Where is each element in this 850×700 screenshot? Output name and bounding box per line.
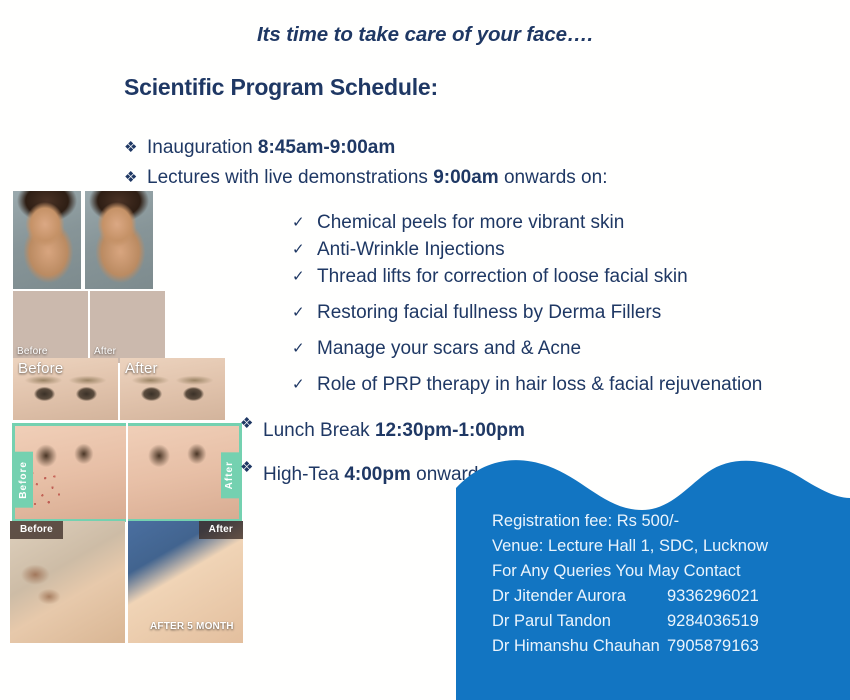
topic-item: ✓ Thread lifts for correction of loose f… — [292, 263, 812, 290]
contact-phone: 7905879163 — [667, 634, 759, 659]
check-icon: ✓ — [292, 263, 317, 290]
registration-fee: Registration fee: Rs 500/- — [492, 509, 822, 534]
collage-photo-pigment-after: After AFTER 5 MONTH — [128, 521, 243, 643]
contact-row: Dr Himanshu Chauhan 7905879163 — [492, 634, 822, 659]
topic-label: Chemical peels for more vibrant skin — [317, 209, 624, 236]
diamond-bullet-icon: ❖ — [240, 409, 263, 439]
topic-item: ✓ Restoring facial fullness by Derma Fil… — [292, 299, 812, 326]
schedule-item-text: Lunch Break 12:30pm-1:00pm — [263, 409, 525, 453]
schedule-item-text: High-Tea 4:00pm onwards — [263, 453, 488, 497]
collage-label-after-five-month: AFTER 5 MONTH — [150, 622, 234, 632]
collage-label-after-smile: After — [94, 347, 116, 357]
collage-label-before-acne: Before — [15, 452, 33, 508]
collage-label-before-smile: Before — [17, 347, 48, 357]
contact-name: Dr Jitender Aurora — [492, 584, 667, 609]
check-icon: ✓ — [292, 236, 317, 263]
contact-phone: 9336296021 — [667, 584, 759, 609]
topic-item: ✓ Chemical peels for more vibrant skin — [292, 209, 812, 236]
registration-queries: For Any Queries You May Contact — [492, 559, 822, 584]
schedule-item-lectures: ❖ Lectures with live demonstrations 9:00… — [124, 163, 644, 193]
topic-label: Anti-Wrinkle Injections — [317, 236, 505, 263]
collage-label-before-pigment: Before — [10, 521, 63, 539]
schedule-item-text: Lectures with live demonstrations 9:00am… — [147, 163, 607, 193]
schedule-item-inauguration: ❖ Inauguration 8:45am-9:00am — [124, 133, 644, 163]
collage-label-after-acne: After — [221, 452, 239, 498]
topic-label: Role of PRP therapy in hair loss & facia… — [317, 371, 762, 398]
schedule-item-text: Inauguration 8:45am-9:00am — [147, 133, 395, 163]
contact-row: Dr Jitender Aurora 9336296021 — [492, 584, 822, 609]
topics-list: ✓ Chemical peels for more vibrant skin ✓… — [292, 209, 812, 398]
check-icon: ✓ — [292, 209, 317, 236]
check-icon: ✓ — [292, 335, 317, 362]
collage-label-after-eyes: After — [125, 361, 158, 376]
contact-row: Dr Parul Tandon 9284036519 — [492, 609, 822, 634]
registration-venue: Venue: Lecture Hall 1, SDC, Lucknow — [492, 534, 822, 559]
collage-photo-smile-after: After — [90, 291, 165, 363]
contact-name: Dr Himanshu Chauhan — [492, 634, 667, 659]
collage-photo-eyes-before: Before — [13, 358, 118, 420]
collage-photo-pigment-before: Before — [10, 521, 125, 643]
page-tagline: Its time to take care of your face…. — [0, 23, 850, 47]
registration-details: Registration fee: Rs 500/- Venue: Lectur… — [492, 509, 822, 659]
flyer-poster: Its time to take care of your face…. Sci… — [0, 0, 850, 700]
topic-label: Manage your scars and & Acne — [317, 335, 581, 362]
contact-name: Dr Parul Tandon — [492, 609, 667, 634]
collage-photo-male-before — [13, 191, 81, 289]
topic-item: ✓ Manage your scars and & Acne — [292, 335, 812, 362]
check-icon: ✓ — [292, 299, 317, 326]
collage-label-before-eyes: Before — [18, 361, 63, 376]
page-title: Scientific Program Schedule: — [124, 74, 438, 101]
registration-panel: Registration fee: Rs 500/- Venue: Lectur… — [456, 452, 850, 700]
contact-phone: 9284036519 — [667, 609, 759, 634]
topic-label: Restoring facial fullness by Derma Fille… — [317, 299, 661, 326]
schedule-item-lunch-break: ❖ Lunch Break 12:30pm-1:00pm — [240, 409, 660, 453]
collage-photo-eyes-after: After — [120, 358, 225, 420]
topic-item: ✓ Role of PRP therapy in hair loss & fac… — [292, 371, 812, 398]
collage-label-after-pigment: After — [199, 521, 243, 539]
check-icon: ✓ — [292, 371, 317, 398]
diamond-bullet-icon: ❖ — [124, 163, 147, 193]
topic-label: Thread lifts for correction of loose fac… — [317, 263, 688, 290]
collage-photo-smile-before: Before — [13, 291, 88, 363]
diamond-bullet-icon: ❖ — [240, 453, 263, 483]
collage-photo-acne-before: Before — [12, 423, 126, 522]
collage-photo-male-after — [85, 191, 153, 289]
diamond-bullet-icon: ❖ — [124, 133, 147, 163]
schedule-morning-list: ❖ Inauguration 8:45am-9:00am ❖ Lectures … — [124, 133, 644, 193]
collage-photo-acne-after: After — [128, 423, 242, 522]
topic-item: ✓ Anti-Wrinkle Injections — [292, 236, 812, 263]
